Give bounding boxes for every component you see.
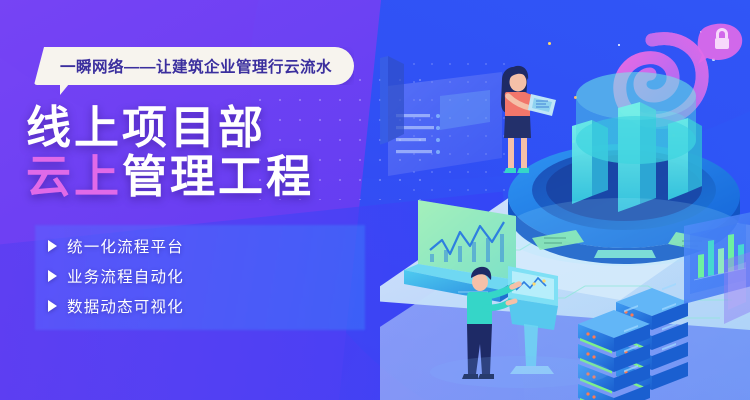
headline-line-2: 云上管理工程 <box>26 154 314 199</box>
feature-list: 统一化流程平台 业务流程自动化 数据动态可视化 <box>48 236 184 326</box>
headline-plain-text: 管理工程 <box>122 151 314 202</box>
list-item: 业务流程自动化 <box>48 266 184 285</box>
side-panel-right <box>724 252 750 324</box>
feature-label: 统一化流程平台 <box>67 235 184 257</box>
tagline-ribbon-body: 一瞬网络——让建筑企业管理行云流水 <box>34 47 354 85</box>
promo-banner: 一瞬网络——让建筑企业管理行云流水 线上项目部 云上管理工程 统一化流程平台 业… <box>0 0 750 400</box>
triangle-right-icon <box>48 270 57 282</box>
page-title: 线上项目部 云上管理工程 <box>26 105 314 199</box>
headline-accent-text: 云上 <box>26 151 122 202</box>
cyan-pillars <box>572 72 702 212</box>
floor-glow <box>430 356 610 388</box>
headline-line-1: 线上项目部 <box>26 105 314 150</box>
list-item: 数据动态可视化 <box>48 296 184 315</box>
triangle-right-icon <box>48 240 57 252</box>
feature-label: 数据动态可视化 <box>67 295 184 317</box>
laptop-line-chart <box>404 200 516 302</box>
illustration-isometric-cloud-platform <box>380 0 750 400</box>
tagline-text: 一瞬网络——让建筑企业管理行云流水 <box>60 55 332 77</box>
chat-bubble-lock-icon <box>698 24 743 64</box>
tagline-ribbon-tail <box>60 84 69 95</box>
tagline-ribbon: 一瞬网络——让建筑企业管理行云流水 <box>34 47 354 85</box>
feature-label: 业务流程自动化 <box>67 265 184 287</box>
banner-content: 一瞬网络——让建筑企业管理行云流水 线上项目部 云上管理工程 统一化流程平台 业… <box>0 0 420 400</box>
list-item: 统一化流程平台 <box>48 236 184 255</box>
triangle-right-icon <box>48 300 57 312</box>
